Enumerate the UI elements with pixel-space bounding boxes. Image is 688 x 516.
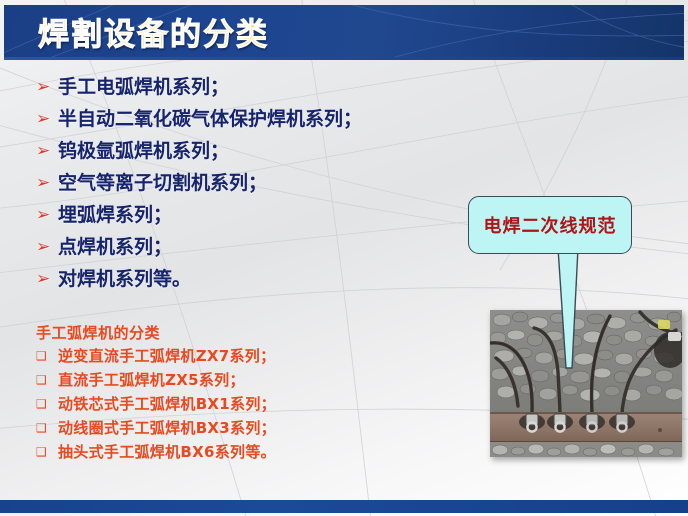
callout-annotation: 电焊二次线规范	[460, 190, 688, 375]
list-item: ➢ 埋弧焊系列；	[36, 200, 466, 232]
list-item: ❑ 直流手工弧焊机ZX5系列；	[36, 368, 456, 392]
list-item: ➢ 手工电弧焊机系列；	[36, 72, 466, 104]
square-bullet-icon: ❑	[36, 344, 58, 368]
arrow-bullet-icon: ➢	[36, 232, 58, 262]
callout-label: 电焊二次线规范	[484, 212, 617, 238]
callout-box: 电焊二次线规范	[468, 196, 632, 254]
list-item-label: 抽头式手工弧焊机BX6系列等。	[58, 440, 276, 464]
list-item: ❑ 抽头式手工弧焊机BX6系列等。	[36, 440, 456, 464]
list-item: ❑ 逆变直流手工弧焊机ZX7系列；	[36, 344, 456, 368]
square-bullet-icon: ❑	[36, 440, 58, 464]
list-item-label: 直流手工弧焊机ZX5系列；	[58, 368, 245, 392]
equipment-bullet-list: ➢ 手工电弧焊机系列； ➢ 半自动二氧化碳气体保护焊机系列； ➢ 钨极氩弧焊机系…	[36, 72, 466, 296]
list-item: ➢ 半自动二氧化碳气体保护焊机系列；	[36, 104, 466, 136]
list-item: ➢ 空气等离子切割机系列；	[36, 168, 466, 200]
arrow-bullet-icon: ➢	[36, 264, 58, 294]
title-banner: 焊割设备的分类	[4, 5, 684, 57]
list-item: ❑ 动线圈式手工弧焊机BX3系列；	[36, 416, 456, 440]
arrow-bullet-icon: ➢	[36, 72, 58, 102]
list-item: ➢ 钨极氩弧焊机系列；	[36, 136, 466, 168]
page-title: 焊割设备的分类	[38, 9, 269, 54]
square-bullet-icon: ❑	[36, 416, 58, 440]
subsection-heading: 手工弧焊机的分类	[36, 322, 456, 344]
list-item-label: 手工电弧焊机系列；	[58, 72, 229, 102]
manual-arc-welder-subsection: 手工弧焊机的分类 ❑ 逆变直流手工弧焊机ZX7系列； ❑ 直流手工弧焊机ZX5系…	[36, 322, 456, 464]
list-item-label: 动线圈式手工弧焊机BX3系列；	[58, 416, 276, 440]
footer-bar	[0, 500, 688, 513]
list-item-label: 点焊机系列；	[58, 232, 172, 262]
list-item-label: 对焊机系列等。	[58, 264, 191, 294]
list-item-label: 动铁芯式手工弧焊机BX1系列；	[58, 392, 276, 416]
list-item-label: 半自动二氧化碳气体保护焊机系列；	[58, 104, 362, 134]
arrow-bullet-icon: ➢	[36, 104, 58, 134]
arrow-bullet-icon: ➢	[36, 136, 58, 166]
arrow-bullet-icon: ➢	[36, 168, 58, 198]
list-item: ❑ 动铁芯式手工弧焊机BX1系列；	[36, 392, 456, 416]
slide-canvas: 焊割设备的分类 ➢ 手工电弧焊机系列； ➢ 半自动二氧化碳气体保护焊机系列； ➢…	[0, 0, 688, 516]
banner-underline	[4, 57, 684, 60]
list-item-label: 逆变直流手工弧焊机ZX7系列；	[58, 344, 275, 368]
list-item-label: 空气等离子切割机系列；	[58, 168, 267, 198]
list-item-label: 埋弧焊系列；	[58, 200, 172, 230]
list-item-label: 钨极氩弧焊机系列；	[58, 136, 229, 166]
list-item: ➢ 点焊机系列；	[36, 232, 466, 264]
square-bullet-icon: ❑	[36, 392, 58, 416]
list-item: ➢ 对焊机系列等。	[36, 264, 466, 296]
square-bullet-icon: ❑	[36, 368, 58, 392]
arrow-bullet-icon: ➢	[36, 200, 58, 230]
